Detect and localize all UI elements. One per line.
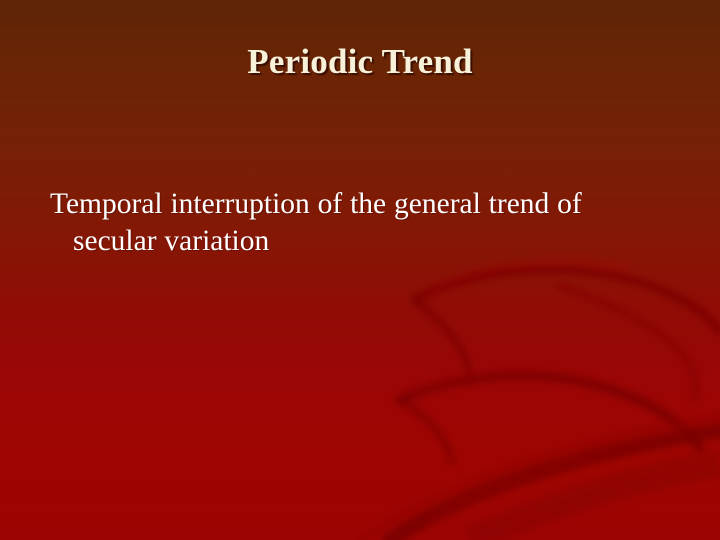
slide-body: Temporal interruption of the general tre… [50,186,650,260]
presentation-slide: Periodic Trend Temporal interruption of … [0,0,720,540]
slide-title-text: Periodic Trend [247,42,472,82]
slide-body-text: Temporal interruption of the general tre… [50,186,650,260]
slide-title: Periodic Trend [0,42,720,82]
